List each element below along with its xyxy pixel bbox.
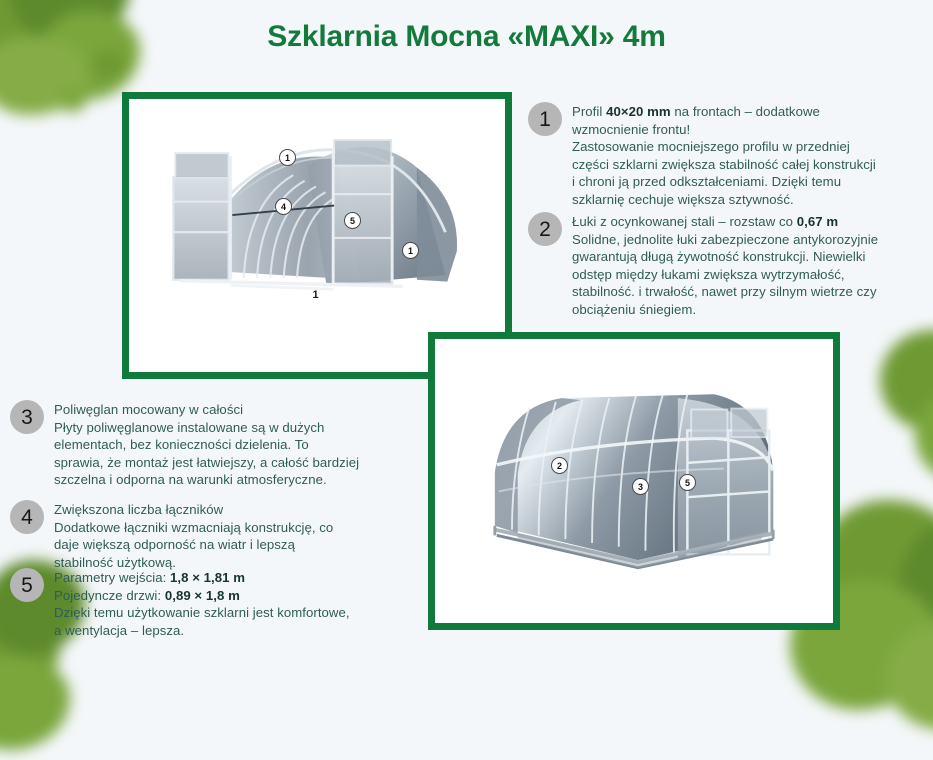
feature-item-5: 5 Parametry wejścia: 1,8 × 1,81 mPojedyn… <box>10 568 420 639</box>
photo-marker-1c: 1 <box>307 286 324 303</box>
photo-marker-1a: 1 <box>279 149 296 166</box>
page-title: Szklarnia Mocna «MAXI» 4m <box>0 0 933 54</box>
feature-item-3: 3 Poliwęglan mocowany w całościPłyty pol… <box>10 400 410 489</box>
feature-badge-5: 5 <box>10 568 44 602</box>
photo-marker-3: 3 <box>632 478 649 495</box>
feature-item-4: 4 Zwiększona liczba łącznikówDodatkowe ł… <box>10 500 410 571</box>
feature-text-3: Poliwęglan mocowany w całościPłyty poliw… <box>54 400 359 489</box>
photo-marker-5a: 5 <box>344 212 361 229</box>
photo-marker-5b: 5 <box>679 474 696 491</box>
photo-marker-4: 4 <box>275 198 292 215</box>
feature-text-4: Zwiększona liczba łącznikówDodatkowe łąc… <box>54 500 333 571</box>
feature-badge-1: 1 <box>528 102 562 136</box>
photo-marker-1b: 1 <box>402 242 419 259</box>
feature-badge-2: 2 <box>528 212 562 246</box>
feature-text-1: Profil 40×20 mm na frontach – dodatkowew… <box>572 102 876 208</box>
feature-text-2: Łuki z ocynkowanej stali – rozstaw co 0,… <box>572 212 878 318</box>
feature-badge-4: 4 <box>10 500 44 534</box>
feature-badge-3: 3 <box>10 400 44 434</box>
feature-item-2: 2 Łuki z ocynkowanej stali – rozstaw co … <box>528 212 933 318</box>
photo-marker-2: 2 <box>551 457 568 474</box>
feature-item-1: 1 Profil 40×20 mm na frontach – dodatkow… <box>528 102 928 208</box>
feature-text-5: Parametry wejścia: 1,8 × 1,81 mPojedyncz… <box>54 568 350 639</box>
foliage-decoration-right-edge <box>880 330 933 480</box>
